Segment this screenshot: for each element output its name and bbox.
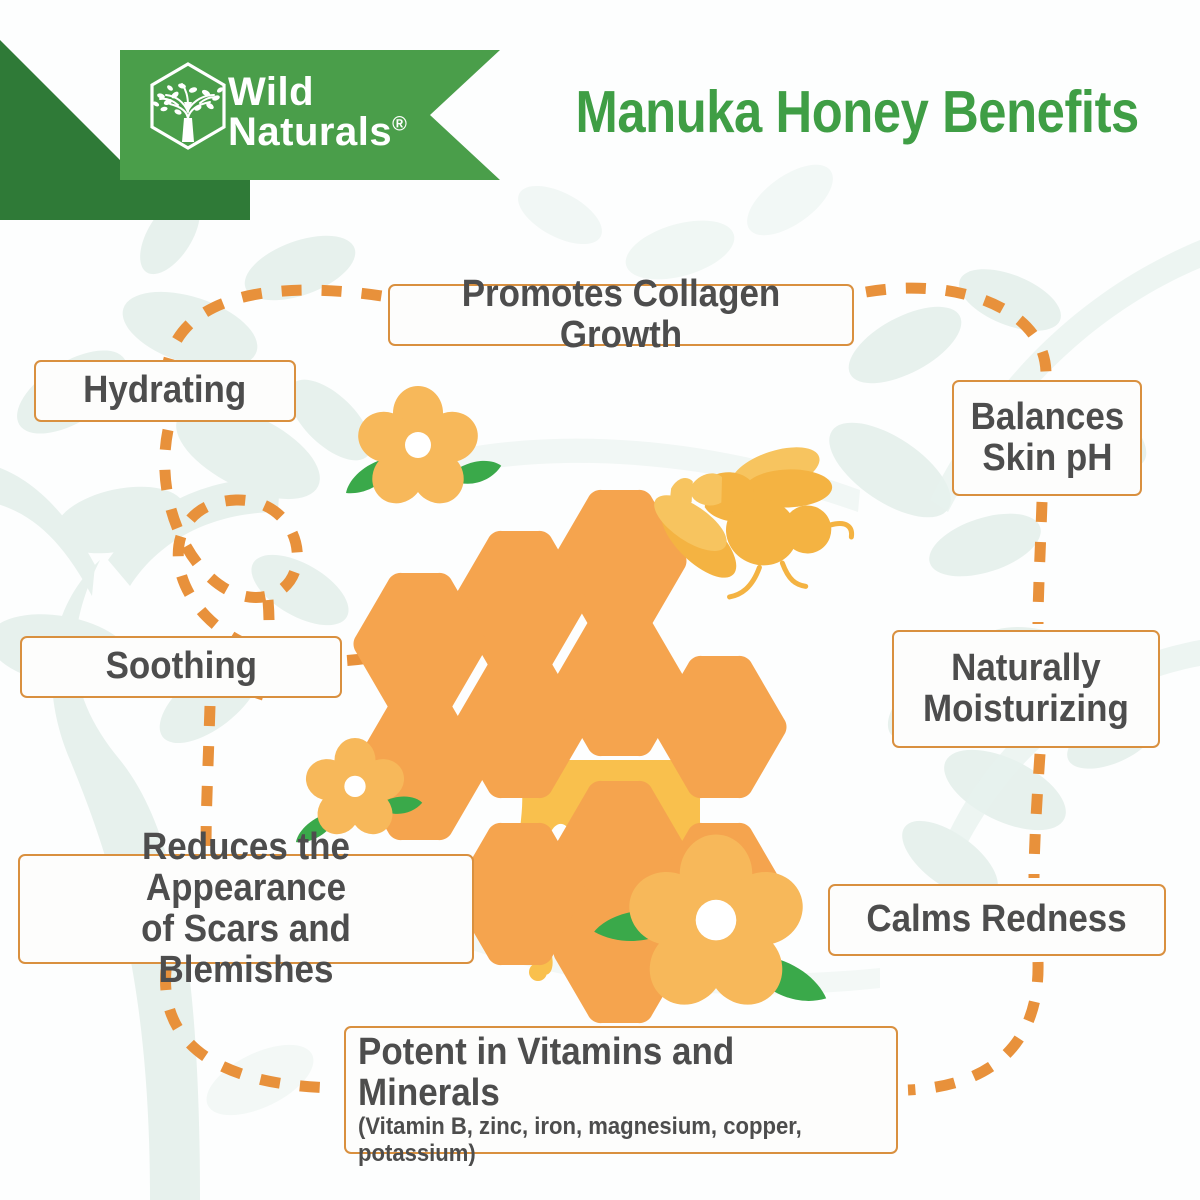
hex-cell <box>653 823 786 965</box>
logo-line-1: Wild <box>228 72 407 112</box>
hex-cell <box>653 656 786 798</box>
flower-top-left <box>346 386 503 514</box>
connector-calms-to-potent <box>908 962 1038 1090</box>
benefit-box-hydrating[interactable]: Hydrating <box>34 360 296 422</box>
petals <box>620 835 813 1020</box>
connector-bee-flight-loop <box>165 430 716 661</box>
benefit-label: Naturally Moisturizing <box>923 648 1129 730</box>
hex-cell <box>553 781 686 923</box>
benefit-label: Calms Redness <box>867 899 1127 940</box>
flower-bottom-center <box>594 835 826 1020</box>
benefit-box-soothing[interactable]: Soothing <box>20 636 342 698</box>
bee-icon <box>629 393 879 629</box>
benefit-sublabel: (Vitamin B, zinc, iron, magnesium, coppe… <box>358 1114 802 1168</box>
infographic-canvas: Wild Naturals® Manuka Honey Benefits <box>0 0 1200 1200</box>
logo-line-2: Naturals <box>228 110 392 154</box>
honey-drip <box>518 760 700 1000</box>
brand-logo-text: Wild Naturals® <box>228 72 407 152</box>
benefit-box-potent-vitamins[interactable]: Potent in Vitamins and Minerals (Vitamin… <box>344 1026 898 1154</box>
hex-cell <box>553 614 686 756</box>
connector-ph-to-moisturizing <box>1038 502 1042 624</box>
benefit-label: Potent in Vitamins and Minerals <box>358 1032 842 1114</box>
hex-cell <box>353 573 486 715</box>
leaf <box>594 910 826 1001</box>
hex-cell <box>553 881 686 1023</box>
hex-cell <box>353 698 486 840</box>
benefit-box-calms-redness[interactable]: Calms Redness <box>828 884 1166 956</box>
petals <box>352 386 485 514</box>
benefit-label: Reduces the Appearance of Scars and Blem… <box>51 827 441 991</box>
connector-collagen-to-ph <box>866 288 1046 374</box>
registered-mark-icon: ® <box>392 114 407 136</box>
page-title: Manuka Honey Benefits <box>576 78 1135 158</box>
benefit-box-balances-skin-ph[interactable]: Balances Skin pH <box>952 380 1142 496</box>
benefit-label: Balances Skin pH <box>970 397 1124 479</box>
leaf <box>346 458 503 493</box>
flower-center <box>344 776 365 797</box>
benefit-label: Hydrating <box>83 370 246 411</box>
hex-cell <box>553 490 686 632</box>
benefit-label: Promotes Collagen Growth <box>421 274 820 356</box>
benefit-box-collagen[interactable]: Promotes Collagen Growth <box>388 284 854 346</box>
benefit-box-reduces-scars[interactable]: Reduces the Appearance of Scars and Blem… <box>18 854 474 964</box>
hex-cell <box>453 656 586 798</box>
benefit-label: Soothing <box>105 646 256 687</box>
hex-cell <box>453 531 586 673</box>
connector-moisturizing-to-calms <box>1034 754 1040 878</box>
flower-center <box>696 900 737 941</box>
benefit-box-naturally-moisturizing[interactable]: Naturally Moisturizing <box>892 630 1160 748</box>
flower-center <box>405 432 431 458</box>
